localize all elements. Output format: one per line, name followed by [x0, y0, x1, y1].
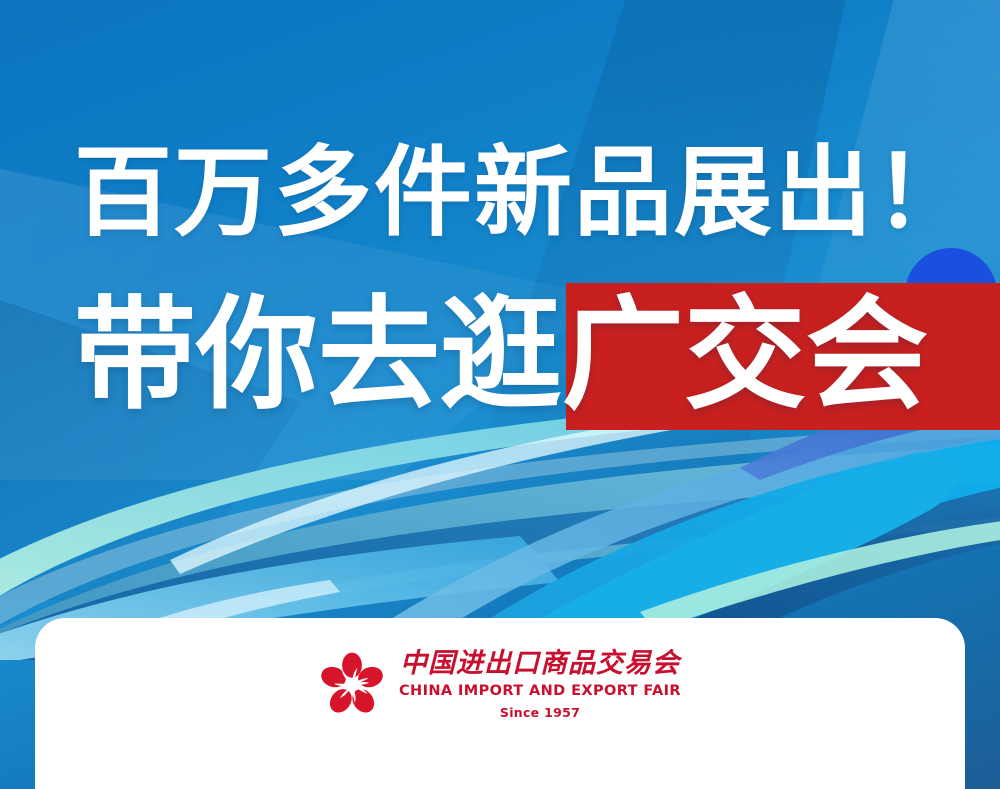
logo-chinese-name: 中国进出口商品交易会 [400, 648, 680, 679]
poster-canvas: 百万多件新品展出！ 带你去逛广交会 [0, 0, 1000, 789]
headline-group: 百万多件新品展出！ 带你去逛广交会 [0, 0, 1000, 460]
bottom-white-card: 中国进出口商品交易会 CHINA IMPORT AND EXPORT FAIR … [35, 618, 965, 789]
headline-line-2-highlight: 广交会 [562, 284, 928, 426]
headline-line-2: 带你去逛广交会 [74, 280, 928, 430]
canton-fair-logo: 中国进出口商品交易会 CHINA IMPORT AND EXPORT FAIR … [319, 648, 681, 722]
logo-text-block: 中国进出口商品交易会 CHINA IMPORT AND EXPORT FAIR … [399, 648, 681, 722]
logo-since-label: Since 1957 [500, 704, 580, 722]
headline-line-2-plain: 带你去逛 [74, 284, 562, 426]
headline-line-2-group: 带你去逛广交会 [0, 280, 1000, 432]
logo-english-name: CHINA IMPORT AND EXPORT FAIR [399, 681, 681, 701]
kapok-flower-icon [319, 652, 385, 718]
headline-line-1: 百万多件新品展出！ [74, 145, 974, 243]
